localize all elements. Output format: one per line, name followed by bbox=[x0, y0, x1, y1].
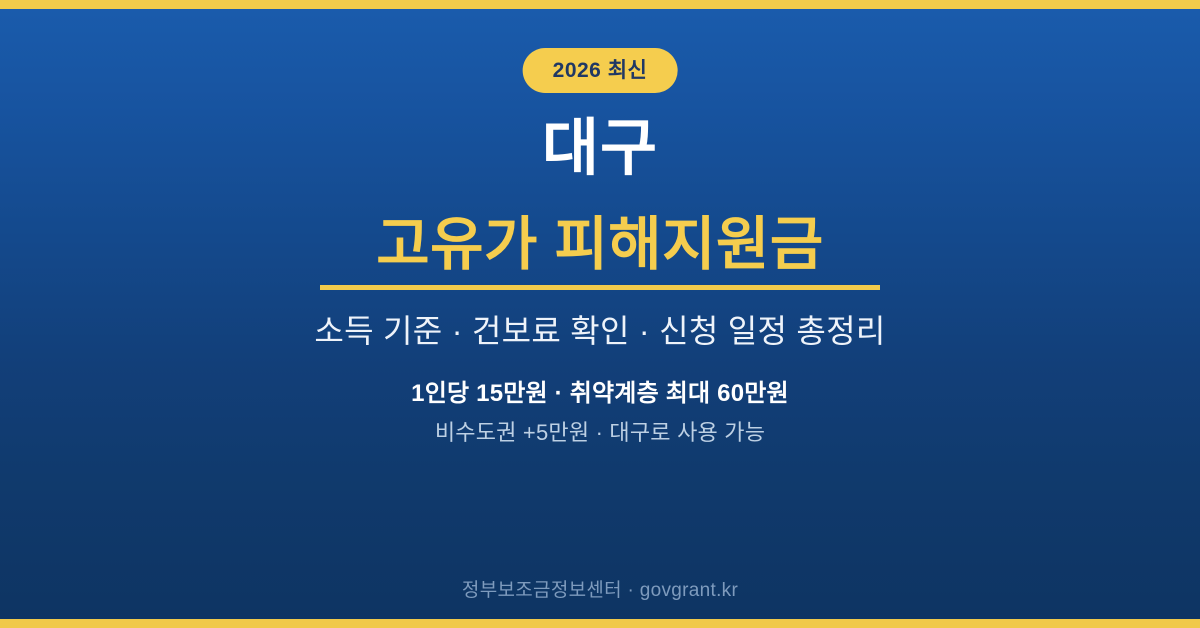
subtitle-text: 소득 기준 · 건보료 확인 · 신청 일정 총정리 bbox=[0, 311, 1200, 353]
detail-primary-text: 1인당 15만원 · 취약계층 최대 60만원 bbox=[0, 378, 1200, 409]
top-accent-bar bbox=[0, 0, 1200, 9]
year-badge-label: 2026 최신 bbox=[553, 60, 648, 81]
year-badge: 2026 최신 bbox=[523, 48, 678, 93]
headline-underline bbox=[320, 285, 880, 290]
poster-canvas: 2026 최신 대구 고유가 피해지원금 소득 기준 · 건보료 확인 · 신청… bbox=[0, 0, 1200, 628]
headline-title: 고유가 피해지원금 bbox=[0, 213, 1200, 277]
bottom-accent-bar bbox=[0, 619, 1200, 628]
detail-secondary-text: 비수도권 +5만원 · 대구로 사용 가능 bbox=[0, 419, 1200, 448]
region-title: 대구 bbox=[0, 116, 1200, 181]
footer-attribution: 정부보조금정보센터 · govgrant.kr bbox=[0, 575, 1200, 602]
